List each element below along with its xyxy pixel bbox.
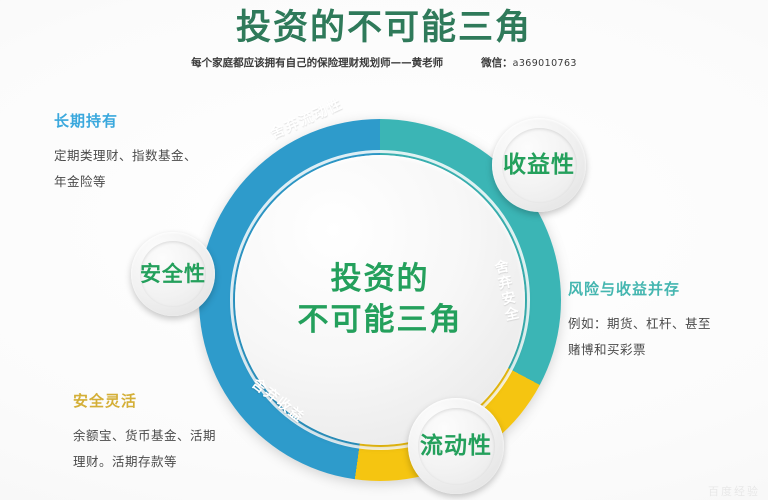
badge-return: 收益性 [492, 118, 586, 212]
wechat-id: a369010763 [513, 58, 577, 69]
page-title: 投资的不可能三角 [0, 8, 768, 49]
header: 投资的不可能三角 每个家庭都应该拥有自己的保险理财规划师——黄老师 微信：a36… [0, 0, 768, 70]
note-long-term-hold-body: 定期类理财、指数基金、 年金险等 [54, 143, 244, 194]
note-safe-flexible-body: 余额宝、货币基金、活期 理财。活期存款等 [73, 423, 273, 474]
note-long-term-hold-line-1: 定期类理财、指数基金、 [54, 143, 244, 169]
note-safe-flexible-line-1: 余额宝、货币基金、活期 [73, 423, 273, 449]
note-long-term-hold: 长期持有 定期类理财、指数基金、 年金险等 [54, 110, 244, 194]
badge-liquidity: 流动性 [408, 398, 504, 494]
badge-liquidity-inner: 流动性 [418, 408, 495, 485]
center-line-1: 投资的 [331, 264, 430, 295]
note-risk-return: 风险与收益并存 例如：期货、杠杆、甚至 赌博和买彩票 [568, 278, 764, 362]
note-risk-return-line-1: 例如：期货、杠杆、甚至 [568, 311, 764, 337]
badge-safety: 安全性 [131, 232, 215, 316]
note-risk-return-body: 例如：期货、杠杆、甚至 赌博和买彩票 [568, 311, 764, 362]
note-long-term-hold-heading: 长期持有 [54, 110, 244, 131]
note-long-term-hold-line-2: 年金险等 [54, 169, 244, 195]
badge-safety-label: 安全性 [140, 263, 206, 285]
watermark: 百度经验 [708, 483, 760, 499]
header-subtitle: 每个家庭都应该拥有自己的保险理财规划师——黄老师 [191, 55, 443, 70]
badge-return-label: 收益性 [503, 153, 575, 177]
note-risk-return-line-2: 赌博和买彩票 [568, 337, 764, 363]
note-risk-return-heading: 风险与收益并存 [568, 278, 764, 299]
wechat-label: 微信： [481, 57, 513, 69]
note-safe-flexible: 安全灵活 余额宝、货币基金、活期 理财。活期存款等 [73, 390, 273, 474]
header-subline: 每个家庭都应该拥有自己的保险理财规划师——黄老师 微信：a369010763 [0, 55, 768, 70]
center-line-2: 不可能三角 [298, 305, 463, 336]
note-safe-flexible-heading: 安全灵活 [73, 390, 273, 411]
poster-canvas: 投资的不可能三角 每个家庭都应该拥有自己的保险理财规划师——黄老师 微信：a36… [0, 0, 768, 500]
badge-liquidity-label: 流动性 [420, 434, 492, 458]
badge-return-inner: 收益性 [502, 128, 577, 203]
badge-safety-inner: 安全性 [140, 241, 206, 307]
wechat-contact: 微信：a369010763 [481, 55, 577, 70]
note-safe-flexible-line-2: 理财。活期存款等 [73, 449, 273, 475]
